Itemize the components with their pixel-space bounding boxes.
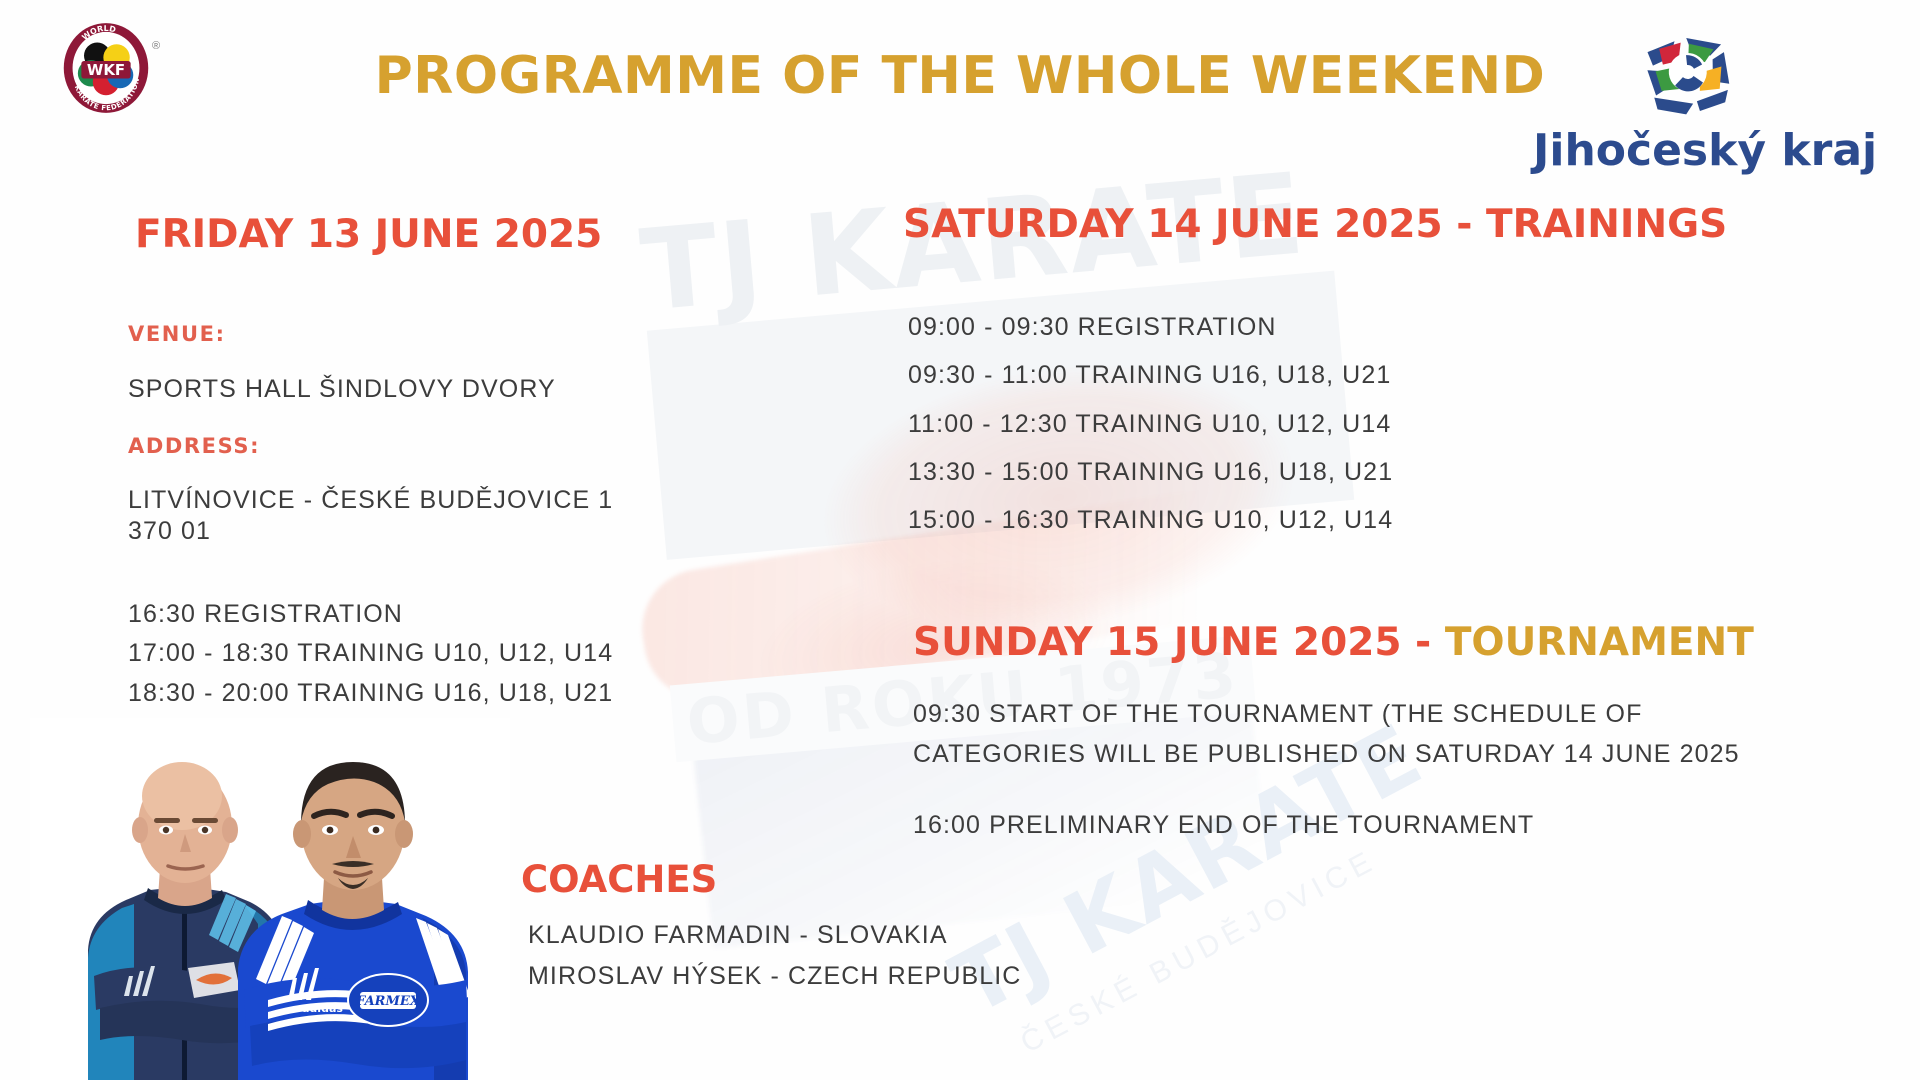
coaches-photo: adidas FARMEX xyxy=(30,718,510,1080)
watermark-bottom-subtitle: ČESKÉ BUDĚJOVICE xyxy=(1015,844,1382,1061)
heading-sunday-tournament: TOURNAMENT xyxy=(1445,620,1754,665)
heading-sunday-date: SUNDAY 15 JUNE 2025 - xyxy=(913,620,1445,665)
sunday-end-note: 16:00 PRELIMINARY END OF THE TOURNAMENT xyxy=(913,808,1534,843)
heading-coaches: COACHES xyxy=(521,858,717,901)
heading-sunday: SUNDAY 15 JUNE 2025 - TOURNAMENT xyxy=(913,620,1754,665)
label-address: ADDRESS: xyxy=(128,434,260,458)
svg-text:FARMEX: FARMEX xyxy=(355,994,421,1009)
coaches-list: KLAUDIO FARMADIN - SLOVAKIA MIROSLAV HÝS… xyxy=(528,915,1021,996)
sunday-start-note: 09:30 START OF THE TOURNAMENT (THE SCHED… xyxy=(913,694,1740,774)
heading-saturday: SATURDAY 14 JUNE 2025 - TRAININGS xyxy=(903,202,1727,247)
friday-schedule-list: 16:30 REGISTRATION 17:00 - 18:30 TRAININ… xyxy=(128,595,613,713)
label-venue: VENUE: xyxy=(128,322,226,346)
value-address: LITVÍNOVICE - ČESKÉ BUDĚJOVICE 1 370 01 xyxy=(128,485,613,548)
svg-text:adidas: adidas xyxy=(302,1002,343,1015)
jihocesky-kraj-label: Jihočeský kraj xyxy=(1533,125,1877,176)
value-venue: SPORTS HALL ŠINDLOVY DVORY xyxy=(128,372,556,407)
saturday-schedule-list: 09:00 - 09:30 REGISTRATION 09:30 - 11:00… xyxy=(908,303,1393,544)
heading-friday: FRIDAY 13 JUNE 2025 xyxy=(135,212,602,257)
jihocesky-kraj-logo-icon xyxy=(1632,22,1744,126)
